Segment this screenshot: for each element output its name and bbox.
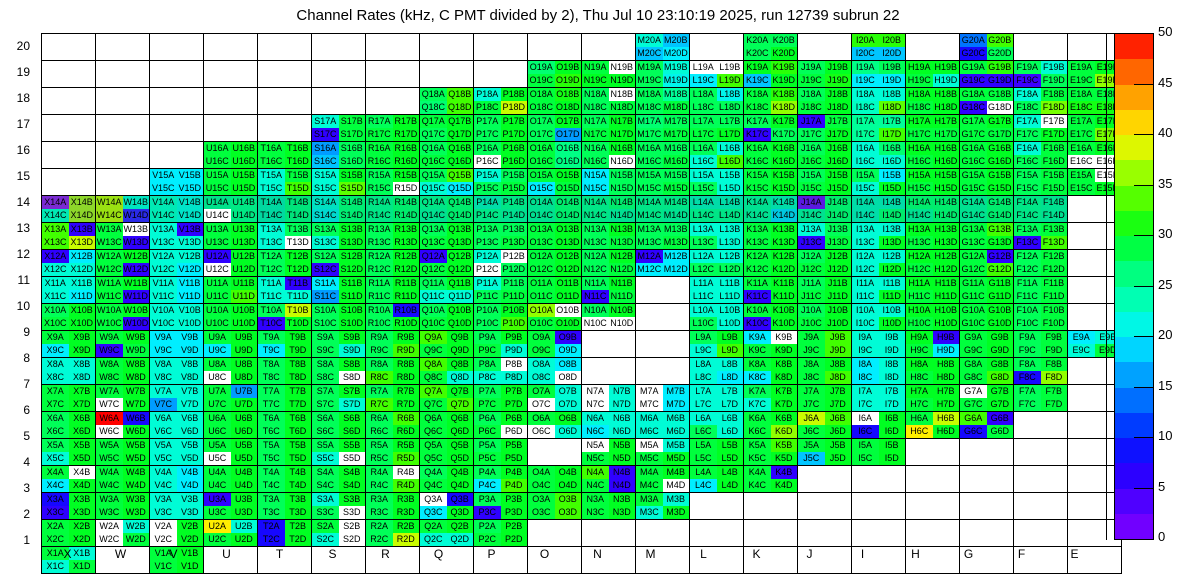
- subchannel-K11A[interactable]: K11A: [744, 277, 771, 290]
- subchannel-F19B[interactable]: F19B: [1041, 61, 1068, 74]
- subchannel-X6B[interactable]: X6B: [69, 412, 96, 425]
- subchannel-Q17B[interactable]: Q17B: [447, 115, 474, 128]
- subchannel-J5B[interactable]: J5B: [825, 439, 852, 452]
- subchannel-W5A[interactable]: W5A: [96, 439, 123, 452]
- subchannel-O8D[interactable]: O8D: [555, 371, 582, 384]
- subchannel-V9D[interactable]: V9D: [177, 344, 204, 357]
- subchannel-W8C[interactable]: W8C: [96, 371, 123, 384]
- subchannel-P10C[interactable]: P10C: [474, 317, 501, 330]
- subchannel-H12D[interactable]: H12D: [933, 263, 960, 276]
- heatmap-cell-I19[interactable]: I19AI19BI19CI19D: [852, 61, 906, 88]
- heatmap-cell-K4[interactable]: K4AK4BK4CK4D: [744, 466, 798, 493]
- subchannel-R10A[interactable]: R10A: [366, 304, 393, 317]
- subchannel-K9B[interactable]: K9B: [771, 331, 798, 344]
- subchannel-F17C[interactable]: F17C: [1014, 128, 1041, 141]
- subchannel-G19D[interactable]: G19D: [987, 74, 1014, 87]
- subchannel-J12D[interactable]: J12D: [825, 263, 852, 276]
- subchannel-K16C[interactable]: K16C: [744, 155, 771, 168]
- subchannel-T7C[interactable]: T7C: [258, 398, 285, 411]
- subchannel-S4C[interactable]: S4C: [312, 479, 339, 492]
- subchannel-I20D[interactable]: I20D: [879, 47, 906, 60]
- heatmap-cell-V5[interactable]: V5AV5BV5CV5D: [150, 439, 204, 466]
- subchannel-Q14A[interactable]: Q14A: [420, 196, 447, 209]
- subchannel-O9D[interactable]: O9D: [555, 344, 582, 357]
- heatmap-cell-H12[interactable]: H12AH12BH12CH12D: [906, 250, 960, 277]
- subchannel-Q15B[interactable]: Q15B: [447, 169, 474, 182]
- heatmap-cell-T12[interactable]: T12AT12BT12CT12D: [258, 250, 312, 277]
- subchannel-E18C[interactable]: E18C: [1068, 101, 1095, 114]
- subchannel-L12A[interactable]: L12A: [690, 250, 717, 263]
- subchannel-P11B[interactable]: P11B: [501, 277, 528, 290]
- subchannel-M7B[interactable]: M7B: [663, 385, 690, 398]
- heatmap-cell-I11[interactable]: I11AI11BI11CI11D: [852, 277, 906, 304]
- subchannel-X14C[interactable]: X14C: [42, 209, 69, 222]
- subchannel-H14B[interactable]: H14B: [933, 196, 960, 209]
- subchannel-O18B[interactable]: O18B: [555, 88, 582, 101]
- heatmap-cell-G8[interactable]: G8AG8BG8CG8D: [960, 358, 1014, 385]
- subchannel-L4D[interactable]: L4D: [717, 479, 744, 492]
- subchannel-W11A[interactable]: W11A: [96, 277, 123, 290]
- heatmap-cell-P17[interactable]: P17AP17BP17CP17D: [474, 115, 528, 142]
- subchannel-P6D[interactable]: P6D: [501, 425, 528, 438]
- heatmap-cell-X6[interactable]: X6AX6BX6CX6D: [42, 412, 96, 439]
- subchannel-L7D[interactable]: L7D: [717, 398, 744, 411]
- subchannel-I6B[interactable]: I6B: [879, 412, 906, 425]
- subchannel-N19D[interactable]: N19D: [609, 74, 636, 87]
- heatmap-cell-N10[interactable]: N10AN10BN10CN10D: [582, 304, 636, 331]
- subchannel-O17D[interactable]: O17D: [555, 128, 582, 141]
- subchannel-L16A[interactable]: L16A: [690, 142, 717, 155]
- subchannel-R4C[interactable]: R4C: [366, 479, 393, 492]
- subchannel-S3C[interactable]: S3C: [312, 506, 339, 519]
- subchannel-R4B[interactable]: R4B: [393, 466, 420, 479]
- subchannel-O17B[interactable]: O17B: [555, 115, 582, 128]
- subchannel-F13B[interactable]: F13B: [1041, 223, 1068, 236]
- subchannel-V3D[interactable]: V3D: [177, 506, 204, 519]
- subchannel-X7B[interactable]: X7B: [69, 385, 96, 398]
- subchannel-Q8C[interactable]: Q8C: [420, 371, 447, 384]
- heatmap-cell-Q2[interactable]: Q2AQ2BQ2CQ2D: [420, 520, 474, 547]
- subchannel-S12D[interactable]: S12D: [339, 263, 366, 276]
- heatmap-cell-W8[interactable]: W8AW8BW8CW8D: [96, 358, 150, 385]
- subchannel-M14B[interactable]: M14B: [663, 196, 690, 209]
- heatmap-cell-M17[interactable]: M17AM17BM17CM17D: [636, 115, 690, 142]
- subchannel-T13A[interactable]: T13A: [258, 223, 285, 236]
- heatmap-cell-M5[interactable]: M5AM5BM5CM5D: [636, 439, 690, 466]
- subchannel-T16B[interactable]: T16B: [285, 142, 312, 155]
- subchannel-W11C[interactable]: W11C: [96, 290, 123, 303]
- subchannel-I16C[interactable]: I16C: [852, 155, 879, 168]
- heatmap-cell-J11[interactable]: J11AJ11BJ11CJ11D: [798, 277, 852, 304]
- subchannel-T3A[interactable]: T3A: [258, 493, 285, 506]
- subchannel-N13D[interactable]: N13D: [609, 236, 636, 249]
- heatmap-cell-H16[interactable]: H16AH16BH16CH16D: [906, 142, 960, 169]
- subchannel-L18C[interactable]: L18C: [690, 101, 717, 114]
- subchannel-Q10B[interactable]: Q10B: [447, 304, 474, 317]
- subchannel-S13A[interactable]: S13A: [312, 223, 339, 236]
- subchannel-Q3D[interactable]: Q3D: [447, 506, 474, 519]
- subchannel-S5C[interactable]: S5C: [312, 452, 339, 465]
- subchannel-J15B[interactable]: J15B: [825, 169, 852, 182]
- heatmap-cell-P7[interactable]: P7AP7BP7CP7D: [474, 385, 528, 412]
- subchannel-Q17A[interactable]: Q17A: [420, 115, 447, 128]
- heatmap-cell-P10[interactable]: P10AP10BP10CP10D: [474, 304, 528, 331]
- subchannel-H8A[interactable]: H8A: [906, 358, 933, 371]
- subchannel-U15C[interactable]: U15C: [204, 182, 231, 195]
- subchannel-T4C[interactable]: T4C: [258, 479, 285, 492]
- subchannel-N5B[interactable]: N5B: [609, 439, 636, 452]
- subchannel-R2B[interactable]: R2B: [393, 520, 420, 533]
- subchannel-K5C[interactable]: K5C: [744, 452, 771, 465]
- subchannel-R5B[interactable]: R5B: [393, 439, 420, 452]
- subchannel-S14B[interactable]: S14B: [339, 196, 366, 209]
- subchannel-J11D[interactable]: J11D: [825, 290, 852, 303]
- subchannel-J10D[interactable]: J10D: [825, 317, 852, 330]
- subchannel-R10B[interactable]: R10B: [393, 304, 420, 317]
- subchannel-O14B[interactable]: O14B: [555, 196, 582, 209]
- subchannel-J15A[interactable]: J15A: [798, 169, 825, 182]
- subchannel-R11C[interactable]: R11C: [366, 290, 393, 303]
- subchannel-R12B[interactable]: R12B: [393, 250, 420, 263]
- subchannel-S7C[interactable]: S7C: [312, 398, 339, 411]
- subchannel-I6D[interactable]: I6D: [879, 425, 906, 438]
- subchannel-X13D[interactable]: X13D: [69, 236, 96, 249]
- subchannel-T10D[interactable]: T10D: [285, 317, 312, 330]
- subchannel-R9D[interactable]: R9D: [393, 344, 420, 357]
- heatmap-cell-R3[interactable]: R3AR3BR3CR3D: [366, 493, 420, 520]
- subchannel-L15C[interactable]: L15C: [690, 182, 717, 195]
- heatmap-cell-N3[interactable]: N3AN3BN3CN3D: [582, 493, 636, 520]
- subchannel-F15C[interactable]: F15C: [1014, 182, 1041, 195]
- subchannel-W8D[interactable]: W8D: [123, 371, 150, 384]
- subchannel-Q12B[interactable]: Q12B: [447, 250, 474, 263]
- subchannel-P11C[interactable]: P11C: [474, 290, 501, 303]
- subchannel-R12D[interactable]: R12D: [393, 263, 420, 276]
- subchannel-S8B[interactable]: S8B: [339, 358, 366, 371]
- subchannel-O4D[interactable]: O4D: [555, 479, 582, 492]
- subchannel-L19D[interactable]: L19D: [717, 74, 744, 87]
- subchannel-J6B[interactable]: J6B: [825, 412, 852, 425]
- subchannel-H17D[interactable]: H17D: [933, 128, 960, 141]
- subchannel-S15C[interactable]: S15C: [312, 182, 339, 195]
- subchannel-R5C[interactable]: R5C: [366, 452, 393, 465]
- heatmap-cell-J18[interactable]: J18AJ18BJ18CJ18D: [798, 88, 852, 115]
- subchannel-U6B[interactable]: U6B: [231, 412, 258, 425]
- heatmap-cell-F18[interactable]: F18AF18BF18CF18D: [1014, 88, 1068, 115]
- subchannel-X8A[interactable]: X8A: [42, 358, 69, 371]
- subchannel-Q6C[interactable]: Q6C: [420, 425, 447, 438]
- heatmap-cell-P18[interactable]: P18AP18BP18CP18D: [474, 88, 528, 115]
- subchannel-J12B[interactable]: J12B: [825, 250, 852, 263]
- subchannel-K4D[interactable]: K4D: [771, 479, 798, 492]
- heatmap-cell-G11[interactable]: G11AG11BG11CG11D: [960, 277, 1014, 304]
- subchannel-S9B[interactable]: S9B: [339, 331, 366, 344]
- heatmap-cell-O18[interactable]: O18AO18BO18CO18D: [528, 88, 582, 115]
- heatmap-cell-K12[interactable]: K12AK12BK12CK12D: [744, 250, 798, 277]
- subchannel-X7C[interactable]: X7C: [42, 398, 69, 411]
- subchannel-Q11B[interactable]: Q11B: [447, 277, 474, 290]
- heatmap-cell-S14[interactable]: S14AS14BS14CS14D: [312, 196, 366, 223]
- heatmap-cell-V6[interactable]: V6AV6BV6CV6D: [150, 412, 204, 439]
- subchannel-K12B[interactable]: K12B: [771, 250, 798, 263]
- subchannel-G15D[interactable]: G15D: [987, 182, 1014, 195]
- subchannel-R8D[interactable]: R8D: [393, 371, 420, 384]
- subchannel-J11C[interactable]: J11C: [798, 290, 825, 303]
- subchannel-X12C[interactable]: X12C: [42, 263, 69, 276]
- heatmap-cell-V11[interactable]: V11AV11BV11CV11D: [150, 277, 204, 304]
- subchannel-L14B[interactable]: L14B: [717, 196, 744, 209]
- subchannel-I16A[interactable]: I16A: [852, 142, 879, 155]
- subchannel-M4B[interactable]: M4B: [663, 466, 690, 479]
- heatmap-cell-F12[interactable]: F12AF12BF12CF12D: [1014, 250, 1068, 277]
- subchannel-N10A[interactable]: N10A: [582, 304, 609, 317]
- subchannel-L16B[interactable]: L16B: [717, 142, 744, 155]
- subchannel-P13C[interactable]: P13C: [474, 236, 501, 249]
- subchannel-L5C[interactable]: L5C: [690, 452, 717, 465]
- subchannel-L15D[interactable]: L15D: [717, 182, 744, 195]
- subchannel-T3D[interactable]: T3D: [285, 506, 312, 519]
- heatmap-cell-I20[interactable]: I20AI20BI20CI20D: [852, 34, 906, 61]
- heatmap-cell-R8[interactable]: R8AR8BR8CR8D: [366, 358, 420, 385]
- subchannel-G15A[interactable]: G15A: [960, 169, 987, 182]
- subchannel-I10B[interactable]: I10B: [879, 304, 906, 317]
- heatmap-cell-G14[interactable]: G14AG14BG14CG14D: [960, 196, 1014, 223]
- subchannel-G8B[interactable]: G8B: [987, 358, 1014, 371]
- subchannel-W10A[interactable]: W10A: [96, 304, 123, 317]
- subchannel-X6A[interactable]: X6A: [42, 412, 69, 425]
- subchannel-S8D[interactable]: S8D: [339, 371, 366, 384]
- subchannel-U2A[interactable]: U2A: [204, 520, 231, 533]
- subchannel-W3B[interactable]: W3B: [123, 493, 150, 506]
- subchannel-V9A[interactable]: V9A: [150, 331, 177, 344]
- subchannel-U9D[interactable]: U9D: [231, 344, 258, 357]
- subchannel-K12A[interactable]: K12A: [744, 250, 771, 263]
- subchannel-M3D[interactable]: M3D: [663, 506, 690, 519]
- subchannel-P2B[interactable]: P2B: [501, 520, 528, 533]
- subchannel-X12D[interactable]: X12D: [69, 263, 96, 276]
- subchannel-J11B[interactable]: J11B: [825, 277, 852, 290]
- subchannel-X8D[interactable]: X8D: [69, 371, 96, 384]
- subchannel-T13B[interactable]: T13B: [285, 223, 312, 236]
- subchannel-P9C[interactable]: P9C: [474, 344, 501, 357]
- subchannel-W2B[interactable]: W2B: [123, 520, 150, 533]
- heatmap-cell-F19[interactable]: F19AF19BF19CF19D: [1014, 61, 1068, 88]
- subchannel-F8C[interactable]: F8C: [1014, 371, 1041, 384]
- subchannel-L5B[interactable]: L5B: [717, 439, 744, 452]
- heatmap-cell-V10[interactable]: V10AV10BV10CV10D: [150, 304, 204, 331]
- subchannel-U7C[interactable]: U7C: [204, 398, 231, 411]
- subchannel-P7D[interactable]: P7D: [501, 398, 528, 411]
- subchannel-G6C[interactable]: G6C: [960, 425, 987, 438]
- subchannel-I10A[interactable]: I10A: [852, 304, 879, 317]
- subchannel-H9D[interactable]: H9D: [933, 344, 960, 357]
- subchannel-R5D[interactable]: R5D: [393, 452, 420, 465]
- subchannel-K14C[interactable]: K14C: [744, 209, 771, 222]
- subchannel-Q11D[interactable]: Q11D: [447, 290, 474, 303]
- subchannel-V7B[interactable]: V7B: [177, 385, 204, 398]
- heatmap-cell-I18[interactable]: I18AI18BI18CI18D: [852, 88, 906, 115]
- subchannel-R13A[interactable]: R13A: [366, 223, 393, 236]
- heatmap-cell-R14[interactable]: R14AR14BR14CR14D: [366, 196, 420, 223]
- subchannel-K16B[interactable]: K16B: [771, 142, 798, 155]
- subchannel-Q12D[interactable]: Q12D: [447, 263, 474, 276]
- subchannel-I13B[interactable]: I13B: [879, 223, 906, 236]
- subchannel-H9C[interactable]: H9C: [906, 344, 933, 357]
- subchannel-P16A[interactable]: P16A: [474, 142, 501, 155]
- subchannel-K18B[interactable]: K18B: [771, 88, 798, 101]
- subchannel-K4A[interactable]: K4A: [744, 466, 771, 479]
- heatmap-cell-N13[interactable]: N13AN13BN13CN13D: [582, 223, 636, 250]
- heatmap-cell-I6[interactable]: I6AI6BI6CI6D: [852, 412, 906, 439]
- subchannel-V6B[interactable]: V6B: [177, 412, 204, 425]
- subchannel-X9C[interactable]: X9C: [42, 344, 69, 357]
- subchannel-T8A[interactable]: T8A: [258, 358, 285, 371]
- subchannel-I17D[interactable]: I17D: [879, 128, 906, 141]
- subchannel-G18D[interactable]: G18D: [987, 101, 1014, 114]
- subchannel-O15D[interactable]: O15D: [555, 182, 582, 195]
- subchannel-L15B[interactable]: L15B: [717, 169, 744, 182]
- subchannel-I13A[interactable]: I13A: [852, 223, 879, 236]
- heatmap-cell-N17[interactable]: N17AN17BN17CN17D: [582, 115, 636, 142]
- subchannel-L11A[interactable]: L11A: [690, 277, 717, 290]
- subchannel-N3B[interactable]: N3B: [609, 493, 636, 506]
- subchannel-I8D[interactable]: I8D: [879, 371, 906, 384]
- heatmap-cell-M4[interactable]: M4AM4BM4CM4D: [636, 466, 690, 493]
- subchannel-J15C[interactable]: J15C: [798, 182, 825, 195]
- heatmap-cell-V2[interactable]: V2AV2BV2CV2D: [150, 520, 204, 547]
- heatmap-cell-H19[interactable]: H19AH19BH19CH19D: [906, 61, 960, 88]
- subchannel-S11A[interactable]: S11A: [312, 277, 339, 290]
- heatmap-cell-Q7[interactable]: Q7AQ7BQ7CQ7D: [420, 385, 474, 412]
- subchannel-H15D[interactable]: H15D: [933, 182, 960, 195]
- subchannel-P5B[interactable]: P5B: [501, 439, 528, 452]
- subchannel-Q7C[interactable]: Q7C: [420, 398, 447, 411]
- heatmap-cell-G12[interactable]: G12AG12BG12CG12D: [960, 250, 1014, 277]
- heatmap-cell-U7[interactable]: U7AU7BU7CU7D: [204, 385, 258, 412]
- subchannel-K15D[interactable]: K15D: [771, 182, 798, 195]
- subchannel-K6C[interactable]: K6C: [744, 425, 771, 438]
- subchannel-K14B[interactable]: K14B: [771, 196, 798, 209]
- subchannel-K6D[interactable]: K6D: [771, 425, 798, 438]
- subchannel-Q4B[interactable]: Q4B: [447, 466, 474, 479]
- subchannel-R17B[interactable]: R17B: [393, 115, 420, 128]
- subchannel-O18C[interactable]: O18C: [528, 101, 555, 114]
- subchannel-L15A[interactable]: L15A: [690, 169, 717, 182]
- subchannel-S9D[interactable]: S9D: [339, 344, 366, 357]
- subchannel-J15D[interactable]: J15D: [825, 182, 852, 195]
- subchannel-U14A[interactable]: U14A: [204, 196, 231, 209]
- subchannel-P9A[interactable]: P9A: [474, 331, 501, 344]
- subchannel-M20A[interactable]: M20A: [636, 34, 663, 47]
- subchannel-S5D[interactable]: S5D: [339, 452, 366, 465]
- heatmap-cell-M18[interactable]: M18AM18BM18CM18D: [636, 88, 690, 115]
- subchannel-G20C[interactable]: G20C: [960, 47, 987, 60]
- subchannel-H16A[interactable]: H16A: [906, 142, 933, 155]
- subchannel-E19A[interactable]: E19A: [1068, 61, 1095, 74]
- heatmap-cell-J15[interactable]: J15AJ15BJ15CJ15D: [798, 169, 852, 196]
- subchannel-E15C[interactable]: E15C: [1068, 182, 1095, 195]
- heatmap-cell-N5[interactable]: N5AN5BN5CN5D: [582, 439, 636, 466]
- subchannel-F14B[interactable]: F14B: [1041, 196, 1068, 209]
- heatmap-cell-K11[interactable]: K11AK11BK11CK11D: [744, 277, 798, 304]
- subchannel-P17D[interactable]: P17D: [501, 128, 528, 141]
- subchannel-K8B[interactable]: K8B: [771, 358, 798, 371]
- subchannel-K19C[interactable]: K19C: [744, 74, 771, 87]
- heatmap-cell-G10[interactable]: G10AG10BG10CG10D: [960, 304, 1014, 331]
- subchannel-K20D[interactable]: K20D: [771, 47, 798, 60]
- subchannel-G13A[interactable]: G13A: [960, 223, 987, 236]
- heatmap-cell-K5[interactable]: K5AK5BK5CK5D: [744, 439, 798, 466]
- heatmap-cell-W11[interactable]: W11AW11BW11CW11D: [96, 277, 150, 304]
- subchannel-F19C[interactable]: F19C: [1014, 74, 1041, 87]
- subchannel-W7D[interactable]: W7D: [123, 398, 150, 411]
- subchannel-I7C[interactable]: I7C: [852, 398, 879, 411]
- subchannel-L18A[interactable]: L18A: [690, 88, 717, 101]
- subchannel-X4D[interactable]: X4D: [69, 479, 96, 492]
- subchannel-I5A[interactable]: I5A: [852, 439, 879, 452]
- subchannel-N19B[interactable]: N19B: [609, 61, 636, 74]
- subchannel-H18C[interactable]: H18C: [906, 101, 933, 114]
- heatmap-cell-Q6[interactable]: Q6AQ6BQ6CQ6D: [420, 412, 474, 439]
- subchannel-W10B[interactable]: W10B: [123, 304, 150, 317]
- subchannel-O15B[interactable]: O15B: [555, 169, 582, 182]
- subchannel-L17A[interactable]: L17A: [690, 115, 717, 128]
- subchannel-K20A[interactable]: K20A: [744, 34, 771, 47]
- subchannel-O4C[interactable]: O4C: [528, 479, 555, 492]
- subchannel-O6B[interactable]: O6B: [555, 412, 582, 425]
- subchannel-R3B[interactable]: R3B: [393, 493, 420, 506]
- heatmap-cell-F13[interactable]: F13AF13BF13CF13D: [1014, 223, 1068, 250]
- heatmap-cell-G18[interactable]: G18AG18BG18CG18D: [960, 88, 1014, 115]
- subchannel-N19C[interactable]: N19C: [582, 74, 609, 87]
- subchannel-I18D[interactable]: I18D: [879, 101, 906, 114]
- subchannel-W13D[interactable]: W13D: [123, 236, 150, 249]
- subchannel-O19A[interactable]: O19A: [528, 61, 555, 74]
- subchannel-G8D[interactable]: G8D: [987, 371, 1014, 384]
- subchannel-I16B[interactable]: I16B: [879, 142, 906, 155]
- heatmap-cell-R11[interactable]: R11AR11BR11CR11D: [366, 277, 420, 304]
- subchannel-K20B[interactable]: K20B: [771, 34, 798, 47]
- heatmap-cell-Q17[interactable]: Q17AQ17BQ17CQ17D: [420, 115, 474, 142]
- subchannel-R8C[interactable]: R8C: [366, 371, 393, 384]
- heatmap-cell-K20[interactable]: K20AK20BK20CK20D: [744, 34, 798, 61]
- heatmap-cell-R7[interactable]: R7AR7BR7CR7D: [366, 385, 420, 412]
- heatmap-cell-U15[interactable]: U15AU15BU15CU15D: [204, 169, 258, 196]
- subchannel-U8A[interactable]: U8A: [204, 358, 231, 371]
- subchannel-G9B[interactable]: G9B: [987, 331, 1014, 344]
- subchannel-G13C[interactable]: G13C: [960, 236, 987, 249]
- subchannel-N16B[interactable]: N16B: [609, 142, 636, 155]
- heatmap-cell-V3[interactable]: V3AV3BV3CV3D: [150, 493, 204, 520]
- subchannel-J17C[interactable]: J17C: [798, 128, 825, 141]
- subchannel-G16B[interactable]: G16B: [987, 142, 1014, 155]
- heatmap-cell-N12[interactable]: N12AN12BN12CN12D: [582, 250, 636, 277]
- heatmap-cell-J10[interactable]: J10AJ10BJ10CJ10D: [798, 304, 852, 331]
- subchannel-Q5B[interactable]: Q5B: [447, 439, 474, 452]
- subchannel-Q4C[interactable]: Q4C: [420, 479, 447, 492]
- subchannel-H16C[interactable]: H16C: [906, 155, 933, 168]
- subchannel-K7A[interactable]: K7A: [744, 385, 771, 398]
- heatmap-cell-X13[interactable]: X13AX13BX13CX13D: [42, 223, 96, 250]
- subchannel-J18B[interactable]: J18B: [825, 88, 852, 101]
- subchannel-F9A[interactable]: F9A: [1014, 331, 1041, 344]
- subchannel-Q8A[interactable]: Q8A: [420, 358, 447, 371]
- subchannel-V10A[interactable]: V10A: [150, 304, 177, 317]
- subchannel-E16C[interactable]: E16C: [1068, 155, 1095, 168]
- subchannel-T15D[interactable]: T15D: [285, 182, 312, 195]
- subchannel-Q13B[interactable]: Q13B: [447, 223, 474, 236]
- subchannel-X5A[interactable]: X5A: [42, 439, 69, 452]
